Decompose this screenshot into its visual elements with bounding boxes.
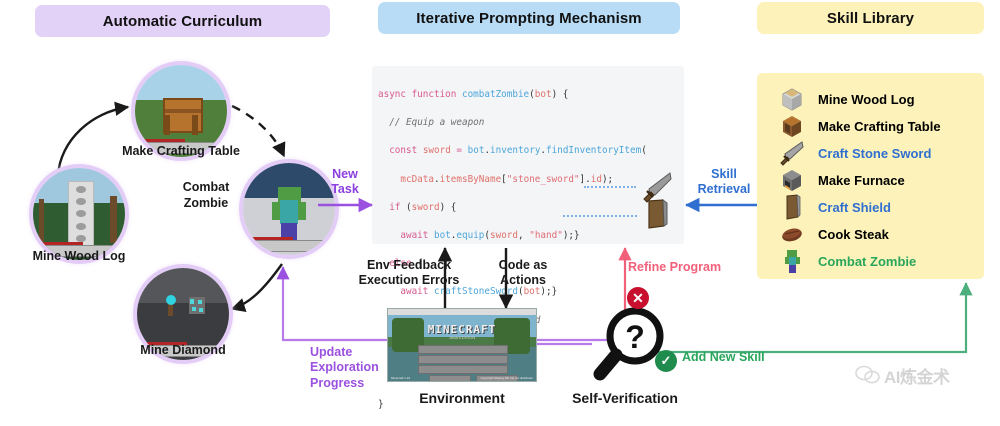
code-to-sword-dotted-line (584, 186, 636, 188)
skill-item-combat-zombie[interactable]: Combat Zombie (779, 248, 916, 274)
tree-trunk-left (39, 199, 45, 241)
skill-item-craft-stone-sword[interactable]: Craft Stone Sword (779, 140, 931, 166)
torch-flame (166, 295, 176, 305)
env-version-text: Minecraft 1.19 (391, 376, 410, 380)
skill-item-make-crafting-table[interactable]: Make Crafting Table (779, 113, 941, 139)
env-small-button[interactable] (429, 375, 471, 382)
chat-bubble-icon (855, 364, 881, 386)
env-menu-button[interactable] (418, 355, 508, 364)
zombie-icon (779, 248, 805, 274)
skill-label: Mine Wood Log (818, 92, 915, 107)
skill-item-craft-shield[interactable]: Craft Shield (779, 194, 891, 220)
node-sky (135, 65, 227, 100)
environment-screenshot[interactable]: MINECRAFT JAVA EDITION Minecraft 1.19 Co… (387, 308, 537, 382)
panel-header-iterative-prompting: Iterative Prompting Mechanism (378, 2, 680, 34)
skill-item-cook-steak[interactable]: Cook Steak (779, 221, 889, 247)
label-env-feedback: Env Feedback Execution Errors (344, 258, 474, 289)
skill-item-make-furnace[interactable]: Make Furnace (779, 167, 905, 193)
furnace-icon (779, 167, 805, 193)
wood-log-stack (68, 181, 94, 251)
code-line: await bot.equip(sword, "hand");} (378, 229, 684, 243)
tree-trunk-right (110, 196, 116, 244)
error-badge: ✕ (627, 287, 649, 309)
skill-label: Cook Steak (818, 227, 889, 242)
magnifier-question-icon: ? (592, 306, 664, 386)
code-line: mcData.itemsByName["stone_sword"].id); (378, 173, 684, 187)
skill-library-panel: Mine Wood Log Make Crafting Table Craft … (757, 73, 984, 279)
wood-log-icon (779, 86, 805, 112)
code-line: const sword = bot.inventory.findInventor… (378, 144, 684, 158)
curriculum-node-label-mine-diamond: Mine Diamond (110, 343, 256, 359)
code-to-shield-dotted-line (563, 215, 637, 217)
label-code-as-actions: Code as Actions (482, 258, 564, 289)
shield-icon (645, 199, 669, 229)
curriculum-node-label-combat-zombie: Combat Zombie (168, 180, 244, 211)
label-new-task: New Task (320, 167, 370, 198)
diamond-ore (189, 297, 206, 314)
label-skill-retrieval: Skill Retrieval (688, 167, 760, 198)
skill-label: Combat Zombie (818, 254, 916, 269)
skill-label: Make Crafting Table (818, 119, 941, 134)
env-menu-button[interactable] (418, 365, 508, 374)
stone-sword-icon (779, 140, 805, 166)
steak-icon (779, 221, 805, 247)
skill-item-mine-wood-log[interactable]: Mine Wood Log (779, 86, 915, 112)
minecraft-subtitle: JAVA EDITION (388, 335, 536, 340)
label-refine-program: Refine Program (628, 260, 738, 275)
node-cave-wall (137, 268, 229, 303)
curriculum-node-label-make-crafting-table: Make Crafting Table (110, 144, 252, 160)
code-block: async function combatZombie(bot) { // Eq… (372, 66, 684, 244)
curriculum-node-mine-wood-log[interactable] (33, 168, 125, 260)
shield-icon (779, 194, 805, 220)
zombie-body (280, 200, 298, 224)
skill-label: Craft Shield (818, 200, 891, 215)
label-add-new-skill: Add New Skill (682, 350, 802, 365)
panel-header-skill-library: Skill Library (757, 2, 984, 34)
hotbar (250, 240, 327, 252)
success-badge: ✓ (655, 350, 677, 372)
watermark: AI炼金术 (855, 358, 995, 392)
code-line: if (sword) { (378, 201, 684, 215)
code-line: async function combatZombie(bot) { (378, 88, 684, 102)
watermark-text: AI炼金术 (884, 363, 950, 388)
panel-header-skills-label: Skill Library (827, 10, 914, 27)
crafting-table-icon (779, 113, 805, 139)
env-menu-button[interactable] (418, 345, 508, 354)
skill-label: Craft Stone Sword (818, 146, 931, 161)
svg-text:?: ? (625, 319, 645, 355)
label-environment: Environment (392, 390, 532, 407)
curriculum-node-label-mine-wood-log: Mine Wood Log (8, 249, 150, 265)
panel-header-prompting-label: Iterative Prompting Mechanism (416, 10, 641, 27)
code-line: // Equip a weapon (378, 116, 684, 130)
label-self-verification: Self-Verification (550, 390, 700, 407)
env-copyright-text: Copyright Mojang AB. Do not distribute! (480, 376, 533, 380)
skill-label: Make Furnace (818, 173, 905, 188)
